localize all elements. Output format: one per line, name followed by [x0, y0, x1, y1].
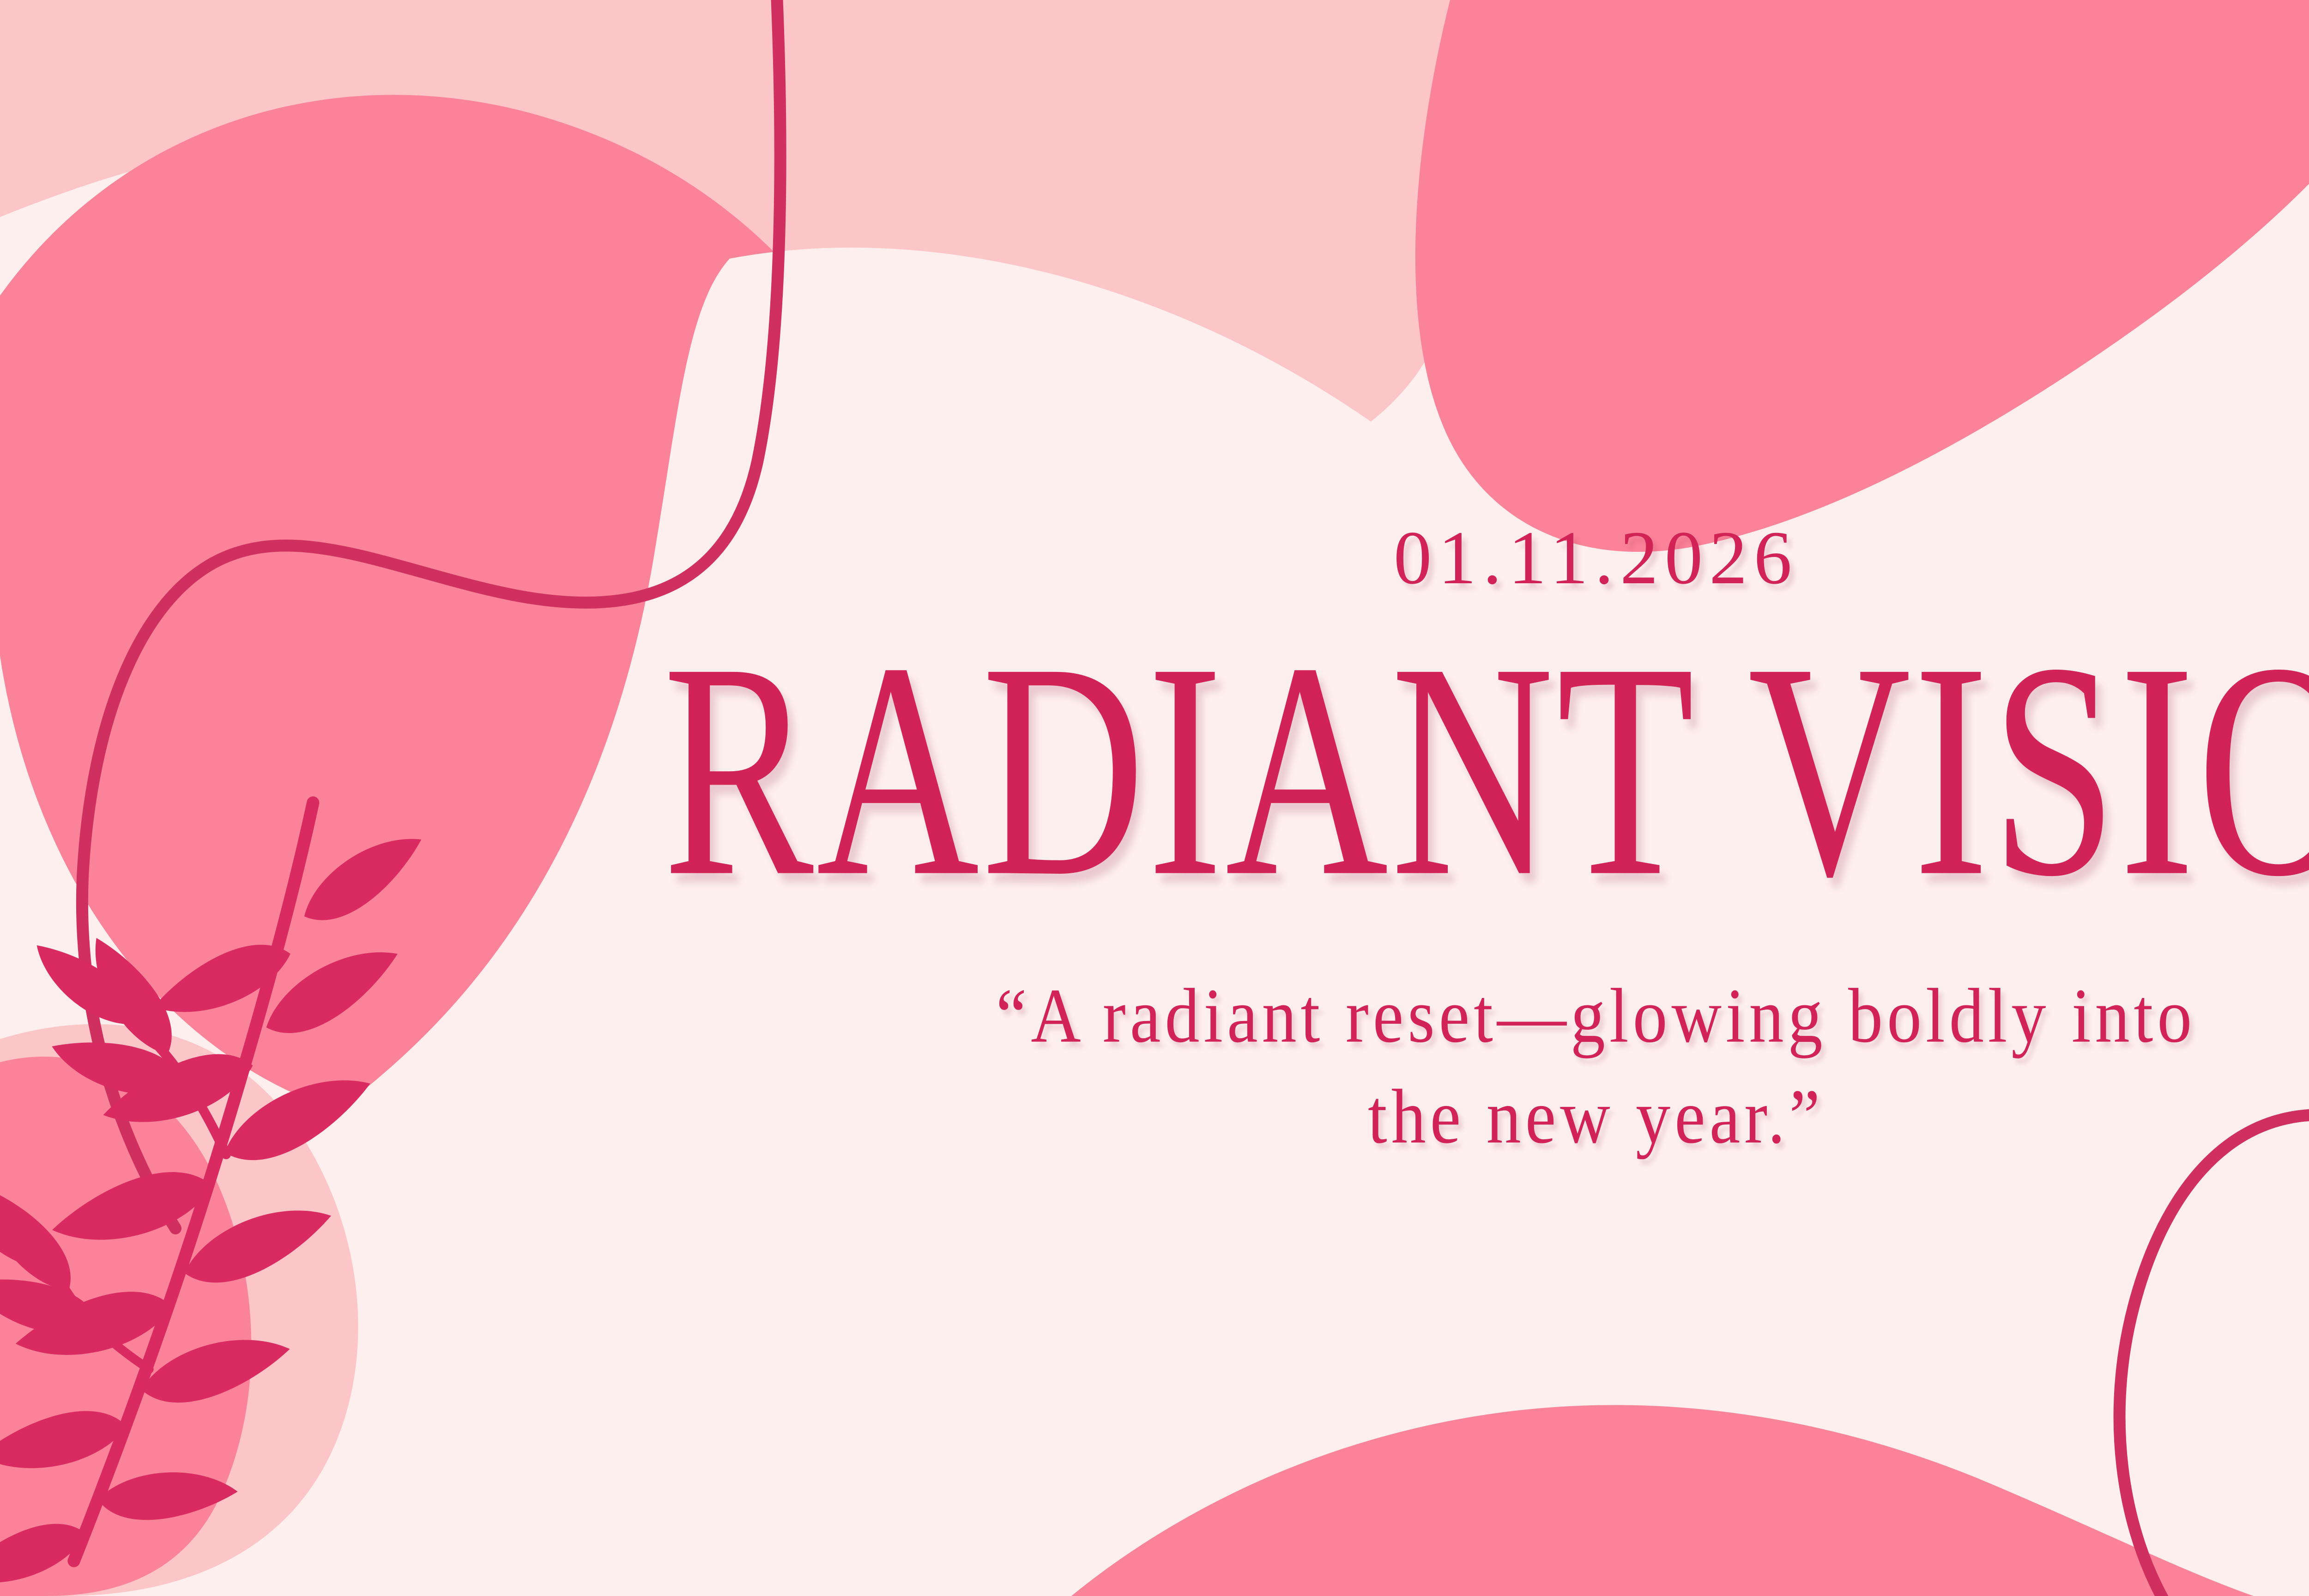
- banner-canvas: 01.11.2026 RADIANT VISION “A radiant res…: [0, 0, 2309, 1596]
- bottom-left-botanical-branch: [0, 721, 686, 1596]
- decoration-layer: [0, 0, 2309, 1596]
- top-left-s-curve-line: [82, 0, 780, 1228]
- bottom-right-s-curve-line: [2120, 702, 2309, 1596]
